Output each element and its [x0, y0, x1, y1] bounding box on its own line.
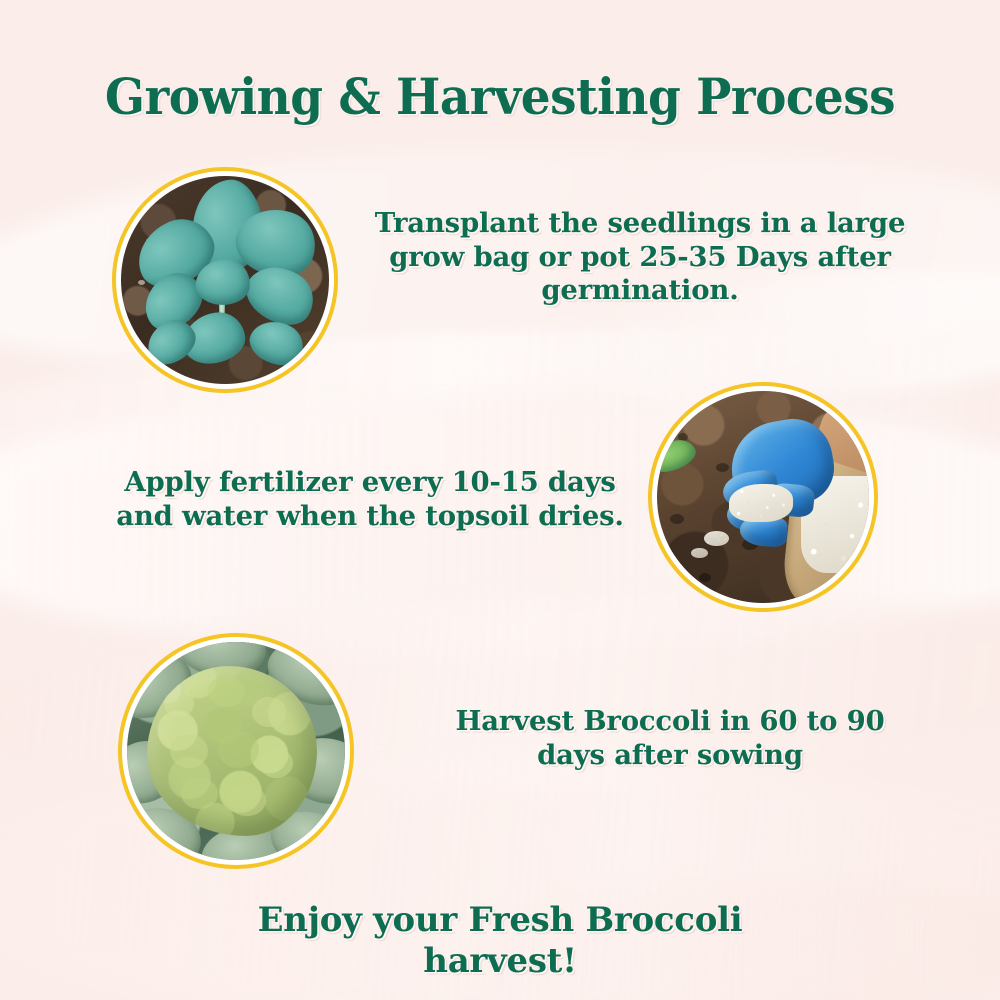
fertilizer-granules-in-hand: [729, 484, 793, 522]
infographic-canvas: Growing & Harvesting Process Trans: [0, 0, 1000, 1000]
broccoli-head-photo: [122, 637, 350, 865]
falling-granules: [704, 531, 729, 546]
page-title: Growing & Harvesting Process: [30, 66, 970, 127]
footer-message: Enjoy your Fresh Broccoli harvest!: [200, 900, 800, 983]
broccoli-seedling-photo: [116, 171, 334, 389]
step-2-caption: Apply fertilizer every 10-15 days and wa…: [95, 466, 645, 533]
photo-clip: [657, 391, 869, 603]
photo-clip: [121, 176, 329, 384]
step-3-caption: Harvest Broccoli in 60 to 90 days after …: [430, 705, 910, 772]
fertilizer-application-photo: [652, 386, 874, 608]
photo-clip: [127, 642, 345, 860]
step-1-caption: Transplant the seedlings in a large grow…: [370, 207, 910, 308]
